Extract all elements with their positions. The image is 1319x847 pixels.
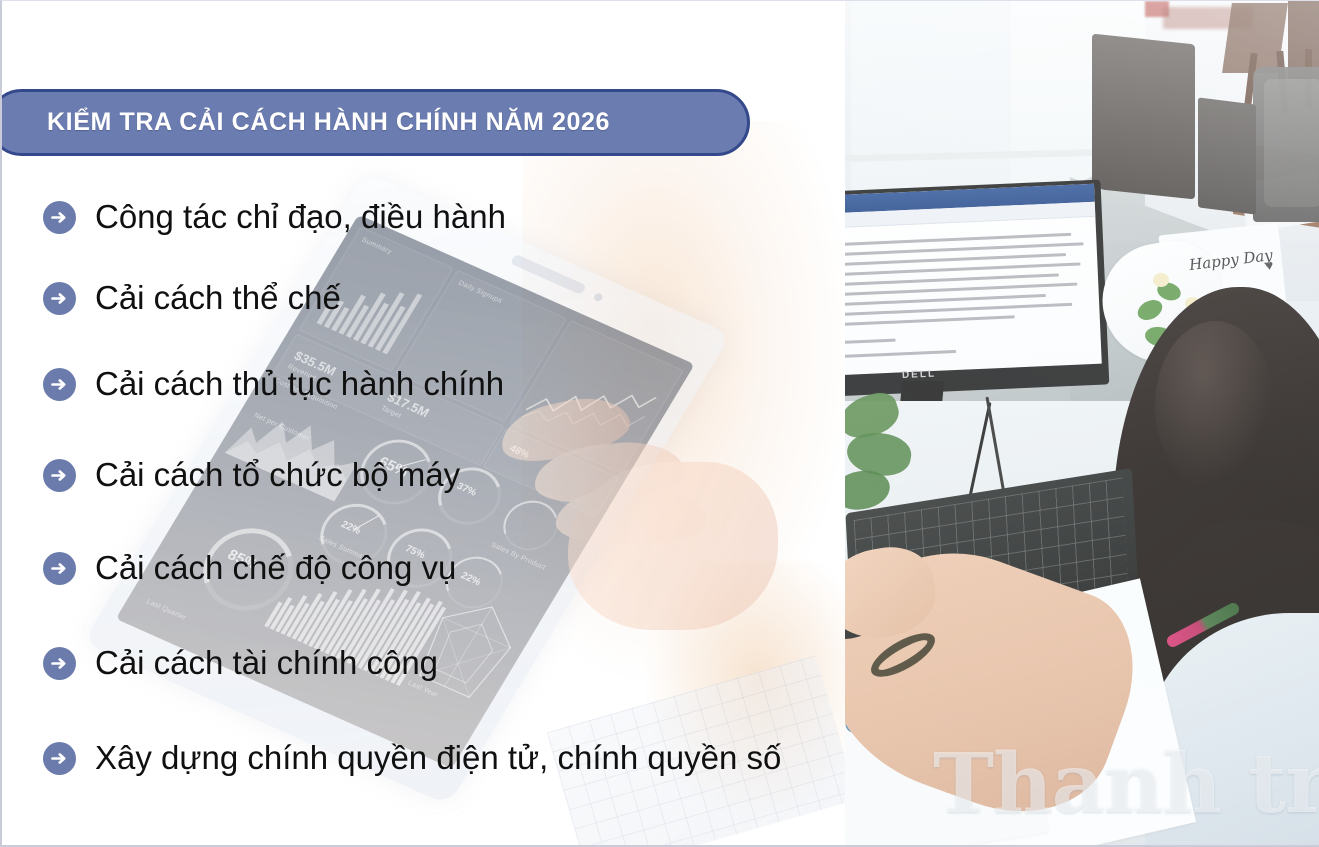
list-item-label: Cải cách thủ tục hành chính <box>95 366 504 402</box>
arrow-right-circle-icon <box>43 742 76 775</box>
slide-root: Summary Daily Signups <box>0 0 1319 847</box>
list-item-label: Cải cách tổ chức bộ máy <box>95 457 460 493</box>
watermark: Thanh tra <box>933 743 1319 825</box>
office-photo: DELL Happy Day ♥ <box>845 1 1319 847</box>
list-item[interactable]: Xây dựng chính quyền điện tử, chính quyề… <box>2 711 845 806</box>
list-item[interactable]: Cải cách tài chính công <box>2 616 845 711</box>
slide-title-banner: KIỂM TRA CẢI CÁCH HÀNH CHÍNH NĂM 2026 <box>2 89 750 156</box>
arrow-right-circle-icon <box>43 459 76 492</box>
arrow-right-circle-icon <box>43 368 76 401</box>
left-content-panel: Summary Daily Signups <box>2 1 845 847</box>
photo-haze-overlay <box>845 1 1319 847</box>
bullet-list: Công tác chỉ đạo, điều hành Cải cách thể… <box>2 177 845 806</box>
list-item-label: Cải cách tài chính công <box>95 645 438 681</box>
list-item[interactable]: Cải cách tổ chức bộ máy <box>2 430 845 521</box>
list-item[interactable]: Cải cách chế độ công vụ <box>2 521 845 616</box>
arrow-right-circle-icon <box>43 282 76 315</box>
list-item[interactable]: Cải cách thủ tục hành chính <box>2 339 845 430</box>
list-item-label: Xây dựng chính quyền điện tử, chính quyề… <box>95 740 781 776</box>
arrow-right-circle-icon <box>43 552 76 585</box>
arrow-right-circle-icon <box>43 201 76 234</box>
list-item-label: Cải cách thể chế <box>95 280 341 316</box>
list-item[interactable]: Công tác chỉ đạo, điều hành <box>2 177 845 258</box>
list-item[interactable]: Cải cách thể chế <box>2 258 845 339</box>
list-item-label: Công tác chỉ đạo, điều hành <box>95 199 506 235</box>
list-item-label: Cải cách chế độ công vụ <box>95 550 456 586</box>
page-title: KIỂM TRA CẢI CÁCH HÀNH CHÍNH NĂM 2026 <box>47 108 610 137</box>
arrow-right-circle-icon <box>43 647 76 680</box>
